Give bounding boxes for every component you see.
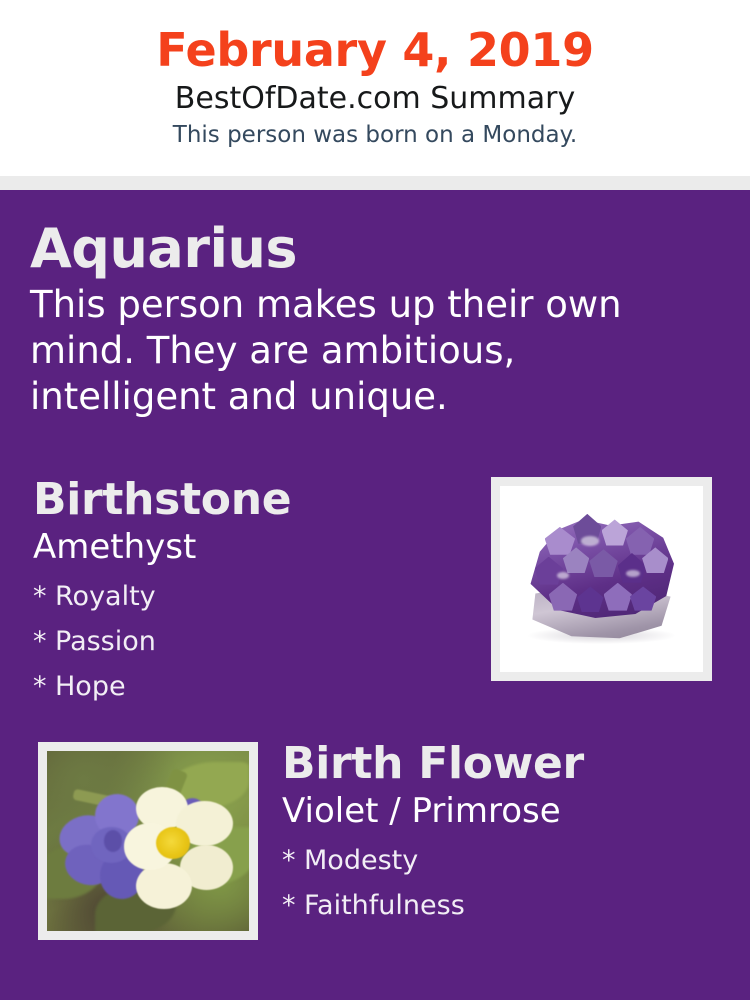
page-title-date: February 4, 2019 — [0, 22, 750, 78]
birth-flower-trait-label: Modesty — [304, 845, 418, 876]
birth-flower-photo-frame — [38, 742, 258, 940]
header: February 4, 2019 BestOfDate.com Summary … — [0, 0, 750, 176]
site-name: BestOfDate.com Summary — [0, 80, 750, 118]
birth-flower-section: Birth Flower Violet / Primrose *Modesty … — [282, 738, 722, 928]
birthstone-trait-label: Royalty — [55, 581, 156, 612]
birthstone-trait-list: *Royalty *Passion *Hope — [33, 574, 463, 709]
list-item: *Hope — [33, 664, 463, 709]
birth-flower-trait-list: *Modesty *Faithfulness — [282, 838, 722, 928]
birthstone-trait-label: Passion — [55, 626, 156, 657]
birthstone-photo-frame — [491, 477, 712, 681]
flower-illustration — [47, 751, 249, 931]
birth-flower-name: Violet / Primrose — [282, 790, 722, 832]
zodiac-section: Aquarius This person makes up their own … — [30, 218, 690, 420]
bullet-asterisk-icon: * — [33, 619, 55, 664]
amethyst-facet — [602, 519, 628, 545]
bullet-asterisk-icon: * — [282, 838, 304, 883]
birthstone-name: Amethyst — [33, 526, 463, 568]
header-divider — [0, 176, 750, 190]
zodiac-sign-name: Aquarius — [30, 218, 690, 280]
bullet-asterisk-icon: * — [33, 574, 55, 619]
birth-flower-heading: Birth Flower — [282, 738, 722, 790]
birthstone-section: Birthstone Amethyst *Royalty *Passion *H… — [33, 474, 463, 709]
amethyst-highlight — [626, 570, 640, 577]
list-item: *Royalty — [33, 574, 463, 619]
bullet-asterisk-icon: * — [33, 664, 55, 709]
amethyst-highlight — [581, 536, 599, 545]
amethyst-highlight — [557, 572, 569, 579]
list-item: *Modesty — [282, 838, 722, 883]
birthstone-photo — [500, 486, 703, 672]
birthstone-heading: Birthstone — [33, 474, 463, 526]
amethyst-illustration — [500, 486, 703, 672]
day-of-week-line: This person was born on a Monday. — [0, 120, 750, 150]
violet-petal — [104, 830, 122, 852]
birth-flower-photo — [47, 751, 249, 931]
summary-card: February 4, 2019 BestOfDate.com Summary … — [0, 0, 750, 1000]
list-item: *Faithfulness — [282, 883, 722, 928]
bullet-asterisk-icon: * — [282, 883, 304, 928]
zodiac-description: This person makes up their own mind. The… — [30, 282, 690, 420]
birth-flower-trait-label: Faithfulness — [304, 890, 465, 921]
list-item: *Passion — [33, 619, 463, 664]
birthstone-trait-label: Hope — [55, 671, 126, 702]
